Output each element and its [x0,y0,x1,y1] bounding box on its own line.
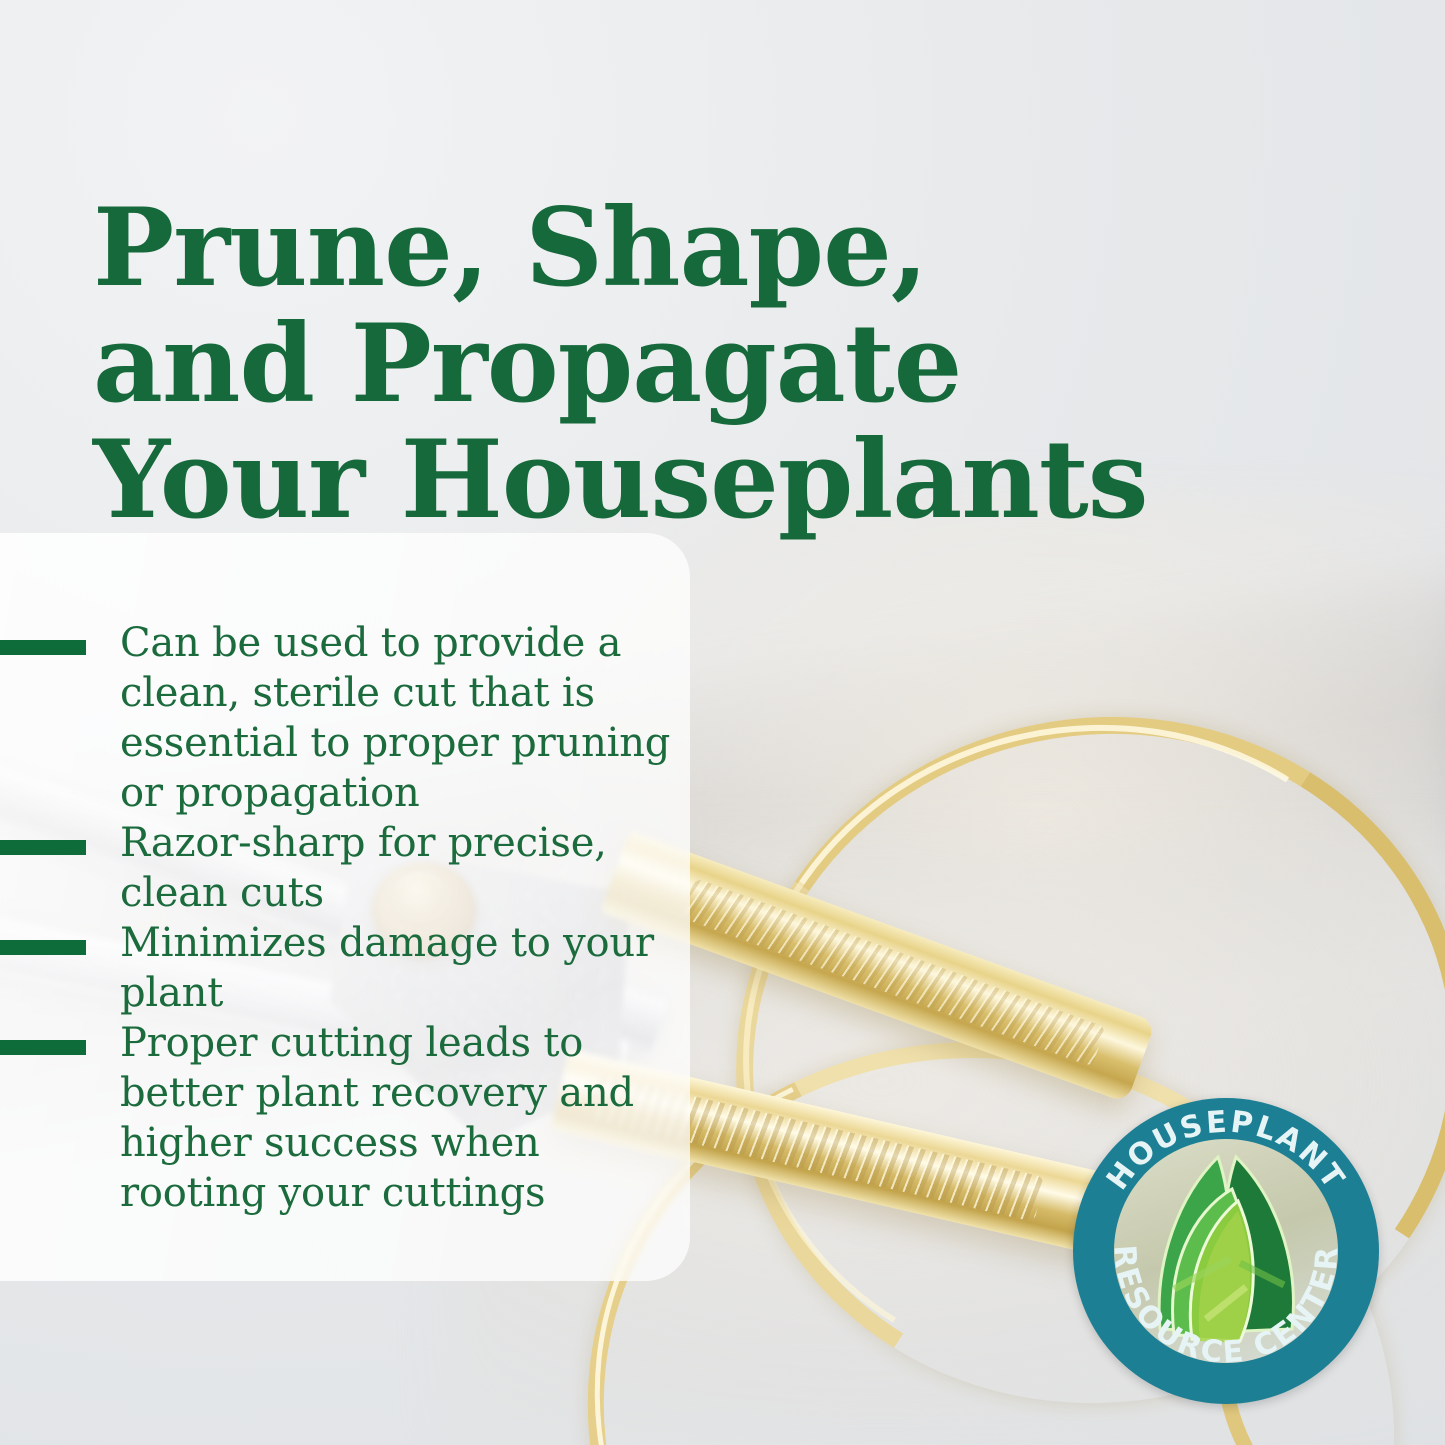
dash-bullet-icon [0,1040,86,1055]
dash-bullet-icon [0,640,86,655]
list-item: Minimizes damage to your plant [0,918,690,1018]
dash-bullet-icon [0,840,86,855]
list-item-label: Razor-sharp for precise, clean cuts [120,818,690,918]
logo-leaf-emblem [1114,1139,1338,1363]
list-item: Proper cutting leads to better plant rec… [0,1018,690,1218]
list-item: Razor-sharp for precise, clean cuts [0,818,690,918]
poster-canvas: Prune, Shape, and Propagate Your Housepl… [0,0,1445,1445]
list-item: Can be used to provide a clean, sterile … [0,618,690,818]
page-title: Prune, Shape, and Propagate Your Housepl… [93,190,1273,538]
brand-logo: HOUSEPLANT RESOURCE CENTER [1073,1098,1379,1404]
list-item-label: Can be used to provide a clean, sterile … [120,618,690,818]
list-item-label: Proper cutting leads to better plant rec… [120,1018,690,1218]
list-item-label: Minimizes damage to your plant [120,918,690,1018]
dash-bullet-icon [0,940,86,955]
leaves-icon [1114,1139,1338,1363]
feature-list: Can be used to provide a clean, sterile … [0,618,690,1218]
